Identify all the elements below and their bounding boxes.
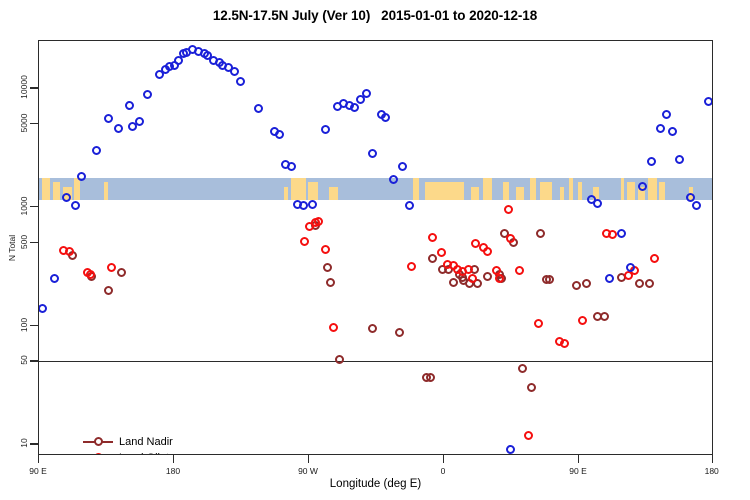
land-segment (516, 187, 524, 200)
x-tick (308, 455, 309, 463)
data-point-land-glint (321, 245, 330, 254)
land-segment (291, 178, 306, 200)
data-point-land-nadir (335, 355, 344, 364)
land-segment (627, 182, 635, 200)
land-segment (648, 178, 657, 200)
land-segment (659, 182, 665, 200)
data-point-ocean-glint (38, 304, 47, 313)
legend-label-land-nadir: Land Nadir (119, 436, 173, 448)
x-tick (443, 455, 444, 463)
y-tick (30, 325, 38, 326)
land-ocean-band (39, 178, 712, 200)
land-segment (621, 178, 624, 200)
y-tick-label: 10000 (19, 75, 29, 99)
y-tick (30, 87, 38, 88)
data-point-ocean-glint (368, 149, 377, 158)
land-segment (74, 178, 80, 200)
data-point-land-nadir (518, 364, 527, 373)
data-point-ocean-glint (92, 146, 101, 155)
data-point-land-glint (534, 319, 543, 328)
data-point-land-nadir (368, 324, 377, 333)
data-point-land-nadir (635, 279, 644, 288)
land-segment (53, 182, 61, 200)
data-point-ocean-glint (506, 445, 515, 454)
y-tick (30, 123, 38, 124)
x-axis-title: Longitude (deg E) (38, 478, 713, 490)
land-segment (578, 182, 583, 200)
data-point-ocean-glint (656, 124, 665, 133)
plot-area: Land Nadir Land Glint Ocean Glint (38, 40, 713, 455)
y-tick (30, 242, 38, 243)
land-segment (425, 182, 464, 200)
data-point-land-glint (407, 262, 416, 271)
y-tick (30, 360, 38, 361)
data-point-ocean-glint (405, 201, 414, 210)
data-point-ocean-glint (605, 274, 614, 283)
land-segment (471, 187, 479, 200)
data-point-land-nadir (449, 278, 458, 287)
data-point-ocean-glint (299, 201, 308, 210)
data-point-land-nadir (545, 275, 554, 284)
data-point-land-nadir (426, 373, 435, 382)
data-point-land-nadir (645, 279, 654, 288)
x-tick-label: 180 (166, 466, 180, 476)
data-point-ocean-glint (62, 193, 71, 202)
data-point-land-glint (464, 265, 473, 274)
data-point-land-glint (515, 266, 524, 275)
land-segment (329, 187, 338, 200)
data-point-land-glint (560, 339, 569, 348)
land-segment (560, 187, 565, 200)
data-point-land-nadir (326, 278, 335, 287)
data-point-land-nadir (395, 328, 404, 337)
page-title: 12.5N-17.5N July (Ver 10) 2015-01-01 to … (0, 8, 750, 23)
land-segment (530, 178, 536, 200)
x-tick (38, 455, 39, 463)
data-point-ocean-glint (71, 201, 80, 210)
y-tick-label: 100 (19, 318, 29, 332)
data-point-land-glint (524, 431, 533, 440)
data-point-ocean-glint (308, 200, 317, 209)
y-tick-label: 50 (19, 356, 29, 365)
data-point-ocean-glint (230, 67, 239, 76)
data-point-ocean-glint (704, 97, 713, 106)
data-point-ocean-glint (125, 101, 134, 110)
chart-legend: Land Nadir Land Glint Ocean Glint (83, 434, 177, 455)
x-tick (173, 455, 174, 463)
data-point-ocean-glint (104, 114, 113, 123)
data-point-ocean-glint (135, 117, 144, 126)
land-segment (413, 178, 419, 200)
data-point-land-glint (578, 316, 587, 325)
data-point-ocean-glint (114, 124, 123, 133)
data-point-land-glint (495, 274, 504, 283)
data-point-land-glint (329, 323, 338, 332)
land-segment (308, 182, 319, 200)
x-tick-label: 180 (705, 466, 719, 476)
data-point-ocean-glint (662, 110, 671, 119)
x-tick-label: 90 W (298, 466, 318, 476)
data-point-ocean-glint (77, 172, 86, 181)
data-point-land-glint (107, 263, 116, 272)
legend-item-land-glint[interactable]: Land Glint (83, 450, 177, 455)
data-point-land-glint (300, 237, 309, 246)
reference-line (39, 361, 712, 362)
y-tick (30, 443, 38, 444)
data-point-ocean-glint (362, 89, 371, 98)
data-point-land-glint (86, 270, 95, 279)
data-point-ocean-glint (275, 130, 284, 139)
land-segment (540, 182, 552, 200)
data-point-ocean-glint (647, 157, 656, 166)
data-point-land-nadir (104, 286, 113, 295)
data-point-land-nadir (572, 281, 581, 290)
data-point-ocean-glint (381, 113, 390, 122)
data-point-land-nadir (600, 312, 609, 321)
y-tick-label: 1000 (19, 197, 29, 216)
data-point-land-glint (314, 217, 323, 226)
data-point-land-nadir (428, 254, 437, 263)
data-point-ocean-glint (668, 127, 677, 136)
data-point-land-nadir (527, 383, 536, 392)
data-point-ocean-glint (236, 77, 245, 86)
data-point-ocean-glint (389, 175, 398, 184)
data-point-land-nadir (117, 268, 126, 277)
data-point-land-nadir (582, 279, 591, 288)
data-point-ocean-glint (593, 199, 602, 208)
data-point-land-glint (650, 254, 659, 263)
data-point-ocean-glint (50, 274, 59, 283)
data-point-ocean-glint (143, 90, 152, 99)
data-point-ocean-glint (321, 125, 330, 134)
data-point-ocean-glint (254, 104, 263, 113)
x-tick-label: 90 E (29, 466, 47, 476)
legend-label-land-glint: Land Glint (119, 452, 169, 456)
data-point-ocean-glint (350, 103, 359, 112)
land-segment (569, 178, 574, 200)
data-point-land-glint (506, 234, 515, 243)
land-segment (483, 178, 492, 200)
y-tick-label: 10 (19, 439, 29, 448)
data-point-ocean-glint (638, 182, 647, 191)
data-point-land-nadir (483, 272, 492, 281)
data-point-ocean-glint (398, 162, 407, 171)
y-axis-title: N Total (7, 234, 17, 260)
legend-swatch-land-nadir (83, 436, 113, 447)
land-segment (284, 187, 289, 200)
data-point-ocean-glint (692, 201, 701, 210)
legend-item-land-nadir[interactable]: Land Nadir (83, 434, 177, 449)
y-tick (30, 206, 38, 207)
data-point-land-glint (437, 248, 446, 257)
data-point-land-glint (65, 247, 74, 256)
data-point-ocean-glint (626, 263, 635, 272)
data-point-land-glint (428, 233, 437, 242)
y-tick-label: 5000 (19, 114, 29, 133)
y-tick-label: 500 (19, 235, 29, 249)
land-segment (104, 182, 109, 200)
data-point-land-nadir (323, 263, 332, 272)
data-point-land-nadir (536, 229, 545, 238)
data-point-ocean-glint (675, 155, 684, 164)
x-tick-label: 90 E (569, 466, 587, 476)
x-tick (578, 455, 579, 463)
x-tick (712, 455, 713, 463)
data-point-land-glint (483, 247, 492, 256)
data-point-ocean-glint (617, 229, 626, 238)
land-segment (503, 182, 509, 200)
data-point-land-glint (608, 230, 617, 239)
legend-swatch-land-glint (83, 452, 113, 455)
data-point-ocean-glint (287, 162, 296, 171)
chart-canvas: 12.5N-17.5N July (Ver 10) 2015-01-01 to … (0, 0, 750, 500)
land-segment (42, 178, 50, 200)
data-point-land-glint (468, 274, 477, 283)
data-point-land-glint (504, 205, 513, 214)
x-tick-label: 0 (441, 466, 446, 476)
